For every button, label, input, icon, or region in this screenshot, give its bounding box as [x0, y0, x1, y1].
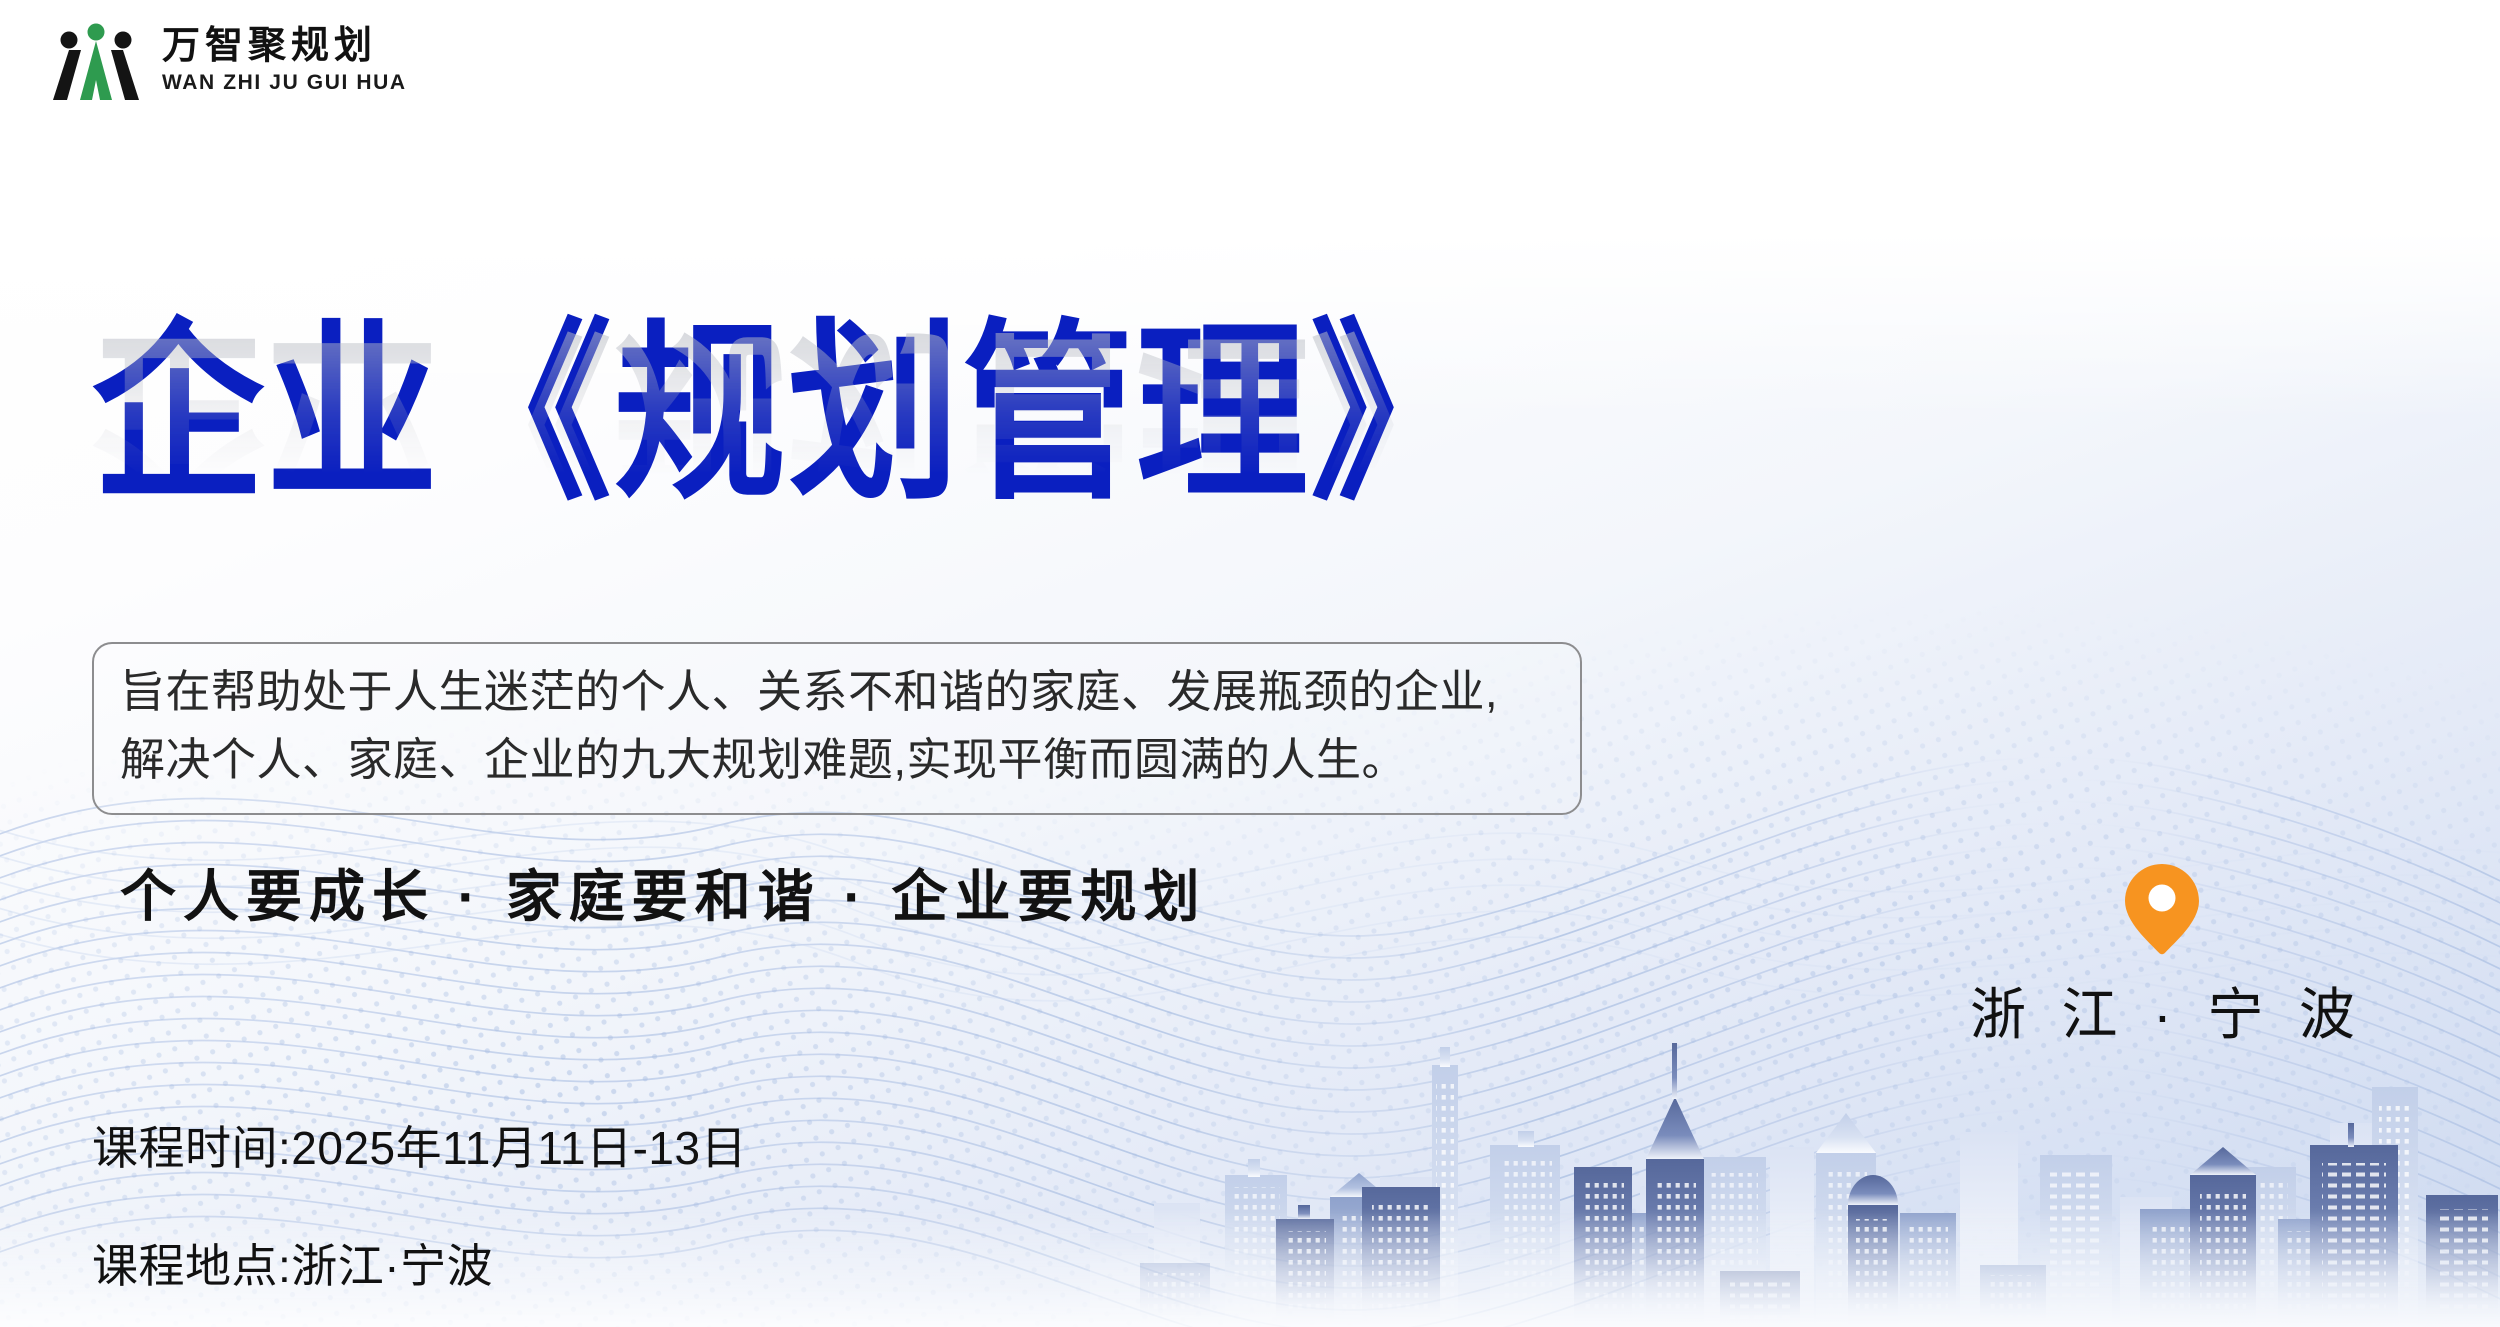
hero-title-block: 企业《规划管理》 企业《规划管理》 [92, 318, 1484, 490]
description-line-2: 解决个人、家庭、企业的九大规划难题,实现平衡而圆满的人生。 [120, 726, 1554, 794]
slogan-text: 个人要成长 · 家庭要和谐 · 企业要规划 [120, 852, 1207, 933]
brand-logo-text: 万智聚规划 WAN ZHI JU GUI HUA [162, 27, 407, 93]
course-info-block: 课程时间:2025年11月11日-13日 课程地点:浙江·宁波 [92, 1112, 747, 1296]
location-pin-icon [2121, 860, 2203, 956]
course-place-line: 课程地点:浙江·宁波 [92, 1230, 747, 1296]
location-label: 浙 江 · 宁 波 [1960, 970, 2365, 1051]
brand-name-cn: 万智聚规划 [162, 27, 407, 65]
description-line-1: 旨在帮助处于人生迷茫的个人、关系不和谐的家庭、发展瓶颈的企业, [120, 658, 1554, 726]
brand-name-en: WAN ZHI JU GUI HUA [162, 72, 407, 93]
poster-root: 万智聚规划 WAN ZHI JU GUI HUA 企业《规划管理》 企业《规划管… [0, 0, 2500, 1327]
location-badge: 浙 江 · 宁 波 [1960, 860, 2365, 1051]
description-box: 旨在帮助处于人生迷茫的个人、关系不和谐的家庭、发展瓶颈的企业, 解决个人、家庭、… [92, 642, 1582, 815]
page-title-reflection: 企业《规划管理》 [92, 321, 1484, 514]
brand-logo: 万智聚规划 WAN ZHI JU GUI HUA [48, 18, 407, 102]
three-people-logo-icon [48, 18, 144, 102]
course-time-line: 课程时间:2025年11月11日-13日 [92, 1112, 747, 1178]
cityscape-silhouette-graphic [1080, 1027, 2500, 1327]
